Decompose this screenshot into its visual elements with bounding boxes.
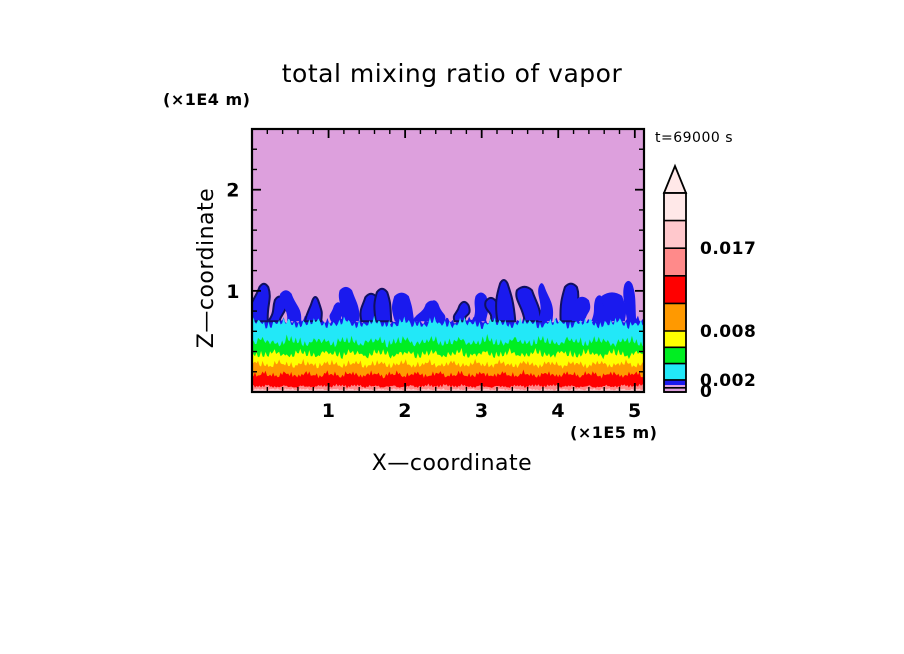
y-tick-label: 2 [226,180,240,202]
colorbar-tick-label: 0 [700,382,712,402]
x-axis-title: X—coordinate [372,451,532,476]
time-annotation: t=69000 s [655,130,733,146]
colorbar-segment[interactable] [664,364,686,381]
colorbar-segment[interactable] [664,303,686,331]
colorbar-tick-label: 0.017 [700,239,756,259]
contour-field [249,129,644,392]
page-title: total mixing ratio of vapor [282,59,623,88]
colorbar[interactable] [664,166,686,393]
colorbar-segment[interactable] [664,221,686,249]
y-axis-title: Z—coordinate [194,188,219,348]
colorbar-segment[interactable] [664,276,686,304]
colorbar-segment[interactable] [664,331,686,348]
plot-area [249,129,644,392]
x-tick-label: 3 [475,400,489,422]
x-tick-label: 5 [628,400,642,422]
x-tick-label: 1 [322,400,336,422]
colorbar-segment[interactable] [664,248,686,276]
x-unit-label: (×1E5 m) [570,423,657,442]
colorbar-segment[interactable] [664,347,686,364]
contour-plot-figure: total mixing ratio of vapor (×1E4 m) t=6… [0,0,904,654]
x-tick-label: 2 [398,400,412,422]
y-unit-label: (×1E4 m) [163,90,250,109]
colorbar-tick-label: 0.008 [700,322,756,342]
x-tick-label: 4 [551,400,565,422]
colorbar-segment[interactable] [664,193,686,221]
y-tick-label: 1 [226,281,240,303]
